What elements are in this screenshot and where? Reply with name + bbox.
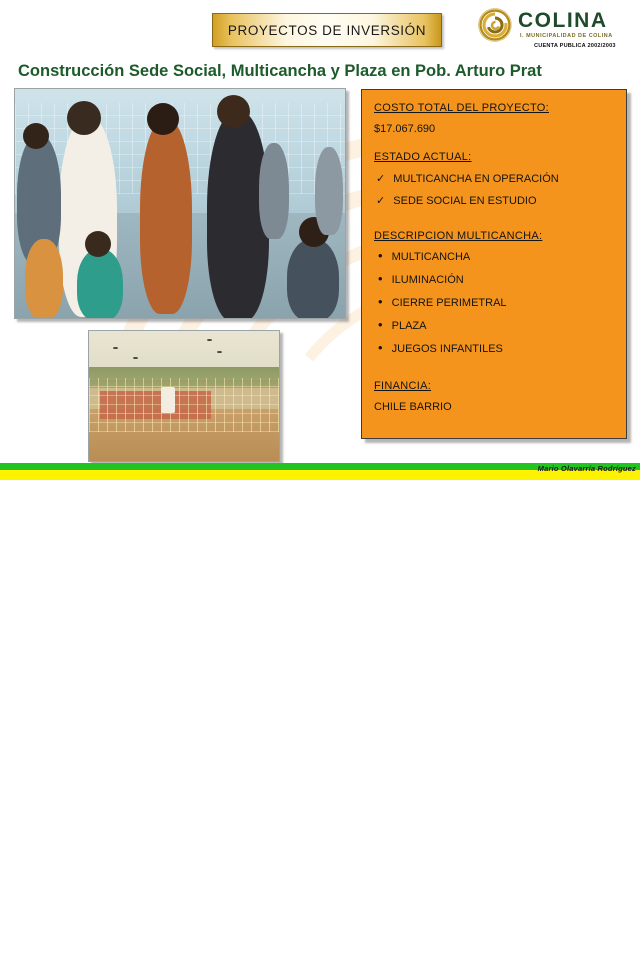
photo-bird [133, 357, 138, 359]
photo-bird [217, 351, 222, 353]
logo-caption: CUENTA PUBLICA 2002/2003 [534, 43, 616, 49]
check-icon: ✓ [376, 173, 385, 185]
photo-person-head [67, 101, 101, 135]
photo-person-head [23, 123, 49, 149]
bullet-icon: • [378, 248, 383, 263]
bullet-icon: • [378, 294, 383, 309]
colina-logo: COLINA I. MUNICIPALIDAD DE COLINA CUENTA… [478, 6, 636, 52]
description-item-label: MULTICANCHA [392, 251, 471, 263]
finance-heading: FINANCIA: [374, 380, 614, 392]
project-photo-secondary [88, 330, 280, 462]
description-item: • ILUMINACIÓN [374, 274, 614, 286]
bullet-icon: • [378, 317, 383, 332]
photo-person [140, 119, 192, 314]
photo-child-head [85, 231, 111, 257]
spacer [374, 216, 614, 226]
status-item: ✓ MULTICANCHA EN OPERACIÓN [374, 172, 614, 185]
photo-main-content [15, 89, 345, 318]
status-heading: ESTADO ACTUAL: [374, 151, 614, 163]
status-item-label: MULTICANCHA EN OPERACIÓN [393, 173, 558, 185]
photo-person-head [217, 95, 250, 128]
cost-heading: COSTO TOTAL DEL PROYECTO: [374, 102, 614, 114]
description-item-label: CIERRE PERIMETRAL [392, 297, 507, 309]
description-item-label: ILUMINACIÓN [392, 274, 464, 286]
bullet-icon: • [378, 271, 383, 286]
photo-child [77, 249, 123, 319]
description-item-label: PLAZA [392, 320, 427, 332]
description-item: • CIERRE PERIMETRAL [374, 297, 614, 309]
finance-value: CHILE BARRIO [374, 401, 614, 413]
footer-credit: Mario Olavarría Rodríguez [538, 464, 636, 473]
slide-title-text: PROYECTOS DE INVERSIÓN [228, 23, 426, 38]
description-item: • JUEGOS INFANTILES [374, 343, 614, 355]
status-item-label: SEDE SOCIAL EN ESTUDIO [393, 195, 536, 207]
photo-person [315, 147, 343, 235]
cost-value: $17.067.690 [374, 123, 614, 135]
spacer [374, 366, 614, 376]
photo-sign [161, 387, 175, 413]
description-item: • MULTICANCHA [374, 251, 614, 263]
photo-bird [113, 347, 118, 349]
photo-person [259, 143, 289, 239]
photo-child [287, 239, 339, 319]
photo-fence [89, 378, 279, 433]
page-title: Construcción Sede Social, Multicancha y … [18, 62, 618, 81]
status-item: ✓ SEDE SOCIAL EN ESTUDIO [374, 194, 614, 207]
spiral-logo-icon [478, 8, 512, 42]
logo-subtitle: I. MUNICIPALIDAD DE COLINA [520, 33, 613, 39]
description-item: • PLAZA [374, 320, 614, 332]
photo-child [25, 239, 63, 319]
slide-title-plaque: PROYECTOS DE INVERSIÓN [212, 13, 442, 47]
check-icon: ✓ [376, 195, 385, 207]
project-info-panel: COSTO TOTAL DEL PROYECTO: $17.067.690 ES… [361, 89, 627, 439]
project-photo-main [14, 88, 346, 319]
description-heading: DESCRIPCION MULTICANCHA: [374, 230, 614, 242]
bullet-icon: • [378, 340, 383, 355]
logo-wordmark: COLINA [518, 10, 608, 32]
photo-secondary-content [89, 331, 279, 461]
photo-person-head [147, 103, 179, 135]
description-item-label: JUEGOS INFANTILES [392, 343, 503, 355]
photo-bird [207, 339, 212, 341]
